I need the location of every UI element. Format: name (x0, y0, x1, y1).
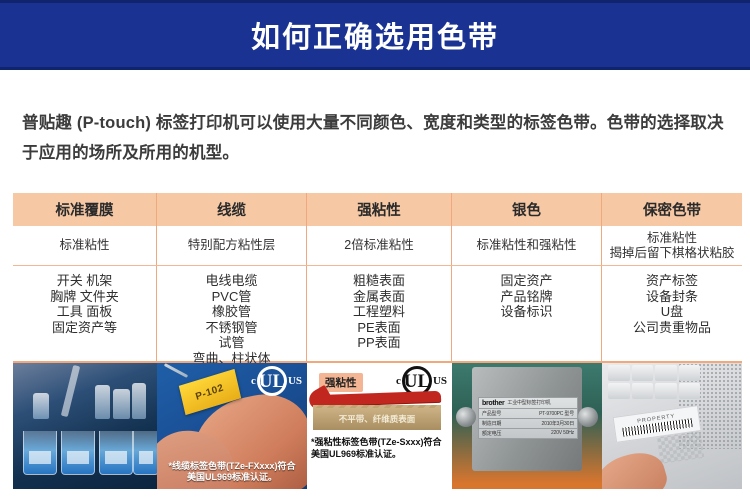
bottle-shape (95, 385, 110, 419)
ul-circle: UL (257, 366, 287, 396)
ribbon-comparison-table: 标准覆膜 线缆 强粘性 银色 保密色带 标准粘性 特别配方粘性层 2倍标准粘性 … (13, 193, 742, 489)
ul-suffix: US (433, 375, 447, 387)
bolt-shape (578, 407, 598, 427)
list-item: 资产标签 (646, 273, 698, 289)
nameplate-row-value: PT-9700PC 型号 (539, 410, 574, 417)
bottle-shape (132, 383, 146, 419)
key-shape (655, 383, 677, 399)
key-shape (632, 383, 654, 399)
list-item: 工具 面板 (57, 304, 113, 320)
yellow-flag-label-photo: P-102 c UL US *线缆标签色带(TZe-FXxxx)符合 美国UL9… (157, 363, 307, 489)
list-item: 试管 (218, 335, 244, 351)
adhesive-security: 标准粘性 揭掉后留下棋格状粘胶 (602, 226, 742, 265)
beaker-shape (23, 431, 57, 475)
applications-strong-adhesive: 粗糙表面 金属表面 工程塑料 PE表面 PP表面 (307, 266, 452, 361)
list-item: 产品铭牌 (500, 289, 552, 305)
wire-shape (164, 363, 188, 378)
header-banner: 如何正确选用色带 (0, 0, 750, 70)
list-item: 橡胶管 (212, 304, 251, 320)
strong-adhesive-diagram: 强粘性 c UL US 不平带、纤维质表面 *强粘性标签色带(TZe-Sxxx)… (307, 363, 452, 489)
bolt-shape (456, 407, 476, 427)
list-item: 开关 机架 (57, 273, 113, 289)
table-header-row: 标准覆膜 线缆 强粘性 银色 保密色带 (13, 193, 742, 226)
list-item: 公司贵重物品 (633, 320, 711, 336)
list-item: 固定资产等 (52, 320, 117, 336)
bottle-shape (33, 393, 49, 419)
flag-label-text: P-102 (195, 382, 226, 403)
bottle-shape (113, 389, 130, 419)
nameplate-row-label: 额定电压 (482, 430, 501, 437)
beaker-shape (99, 431, 133, 475)
list-item: PP表面 (357, 335, 400, 351)
column-header-security: 保密色带 (602, 193, 742, 226)
divider (479, 428, 577, 429)
nameplate-row-label: 产品型号 (482, 410, 501, 417)
column-header-strong-adhesive: 强粘性 (307, 193, 452, 226)
ul-suffix: US (288, 375, 302, 387)
key-shape (679, 365, 701, 381)
list-item: 固定资产 (500, 273, 552, 289)
list-item: PVC管 (212, 289, 252, 305)
key-shape (608, 383, 630, 399)
brother-logo-text: brother (479, 398, 504, 407)
nameplate-title: 工业中型标签打印机 (507, 399, 550, 406)
column-header-cable: 线缆 (157, 193, 307, 226)
divider (479, 418, 577, 419)
metal-nameplate-photo: brother 工业中型标签打印机 产品型号 PT-9700PC 型号 制造日期… (452, 363, 602, 489)
list-item: 粗糙表面 (353, 273, 405, 289)
list-item: 电线电缆 (205, 273, 257, 289)
column-header-standard-laminated: 标准覆膜 (13, 193, 157, 226)
page-title: 如何正确选用色带 (251, 14, 499, 56)
page-root: 如何正确选用色带 普贴趣 (P-touch) 标签打印机可以使用大量不同颜色、宽… (0, 0, 750, 497)
list-item: 金属表面 (353, 289, 405, 305)
table-photos-row: P-102 c UL US *线缆标签色带(TZe-FXxxx)符合 美国UL9… (13, 363, 742, 489)
applications-security: 资产标签 设备封条 U盘 公司贵重物品 (602, 266, 742, 361)
key-shape (632, 365, 654, 381)
keyboard-keys-shape (608, 365, 700, 399)
nameplate-row-label: 制造日期 (482, 420, 501, 427)
table-applications-row: 开关 机架 胸牌 文件夹 工具 面板 固定资产等 电线电缆 PVC管 橡胶管 不… (13, 266, 742, 363)
nameplate-label: brother 工业中型标签打印机 产品型号 PT-9700PC 型号 制造日期… (478, 397, 578, 439)
divider (479, 408, 577, 409)
security-label-photo: PROPERTY (602, 363, 742, 489)
adhesive-standard-laminated: 标准粘性 (13, 226, 157, 265)
list-item: 设备封条 (646, 289, 698, 305)
beaker-shape (61, 431, 95, 475)
ul-prefix: c (396, 375, 401, 387)
adhesive-strong: 2倍标准粘性 (307, 226, 452, 265)
key-shape (679, 383, 701, 399)
test-tube-shape (61, 365, 80, 417)
cable-ul-caption: *线缆标签色带(TZe-FXxxx)符合 美国UL969标准认证。 (161, 461, 303, 483)
list-item: 工程塑料 (353, 304, 405, 320)
key-shape (655, 365, 677, 381)
adhesive-cable: 特别配方粘性层 (157, 226, 307, 265)
applications-standard-laminated: 开关 机架 胸牌 文件夹 工具 面板 固定资产等 (13, 266, 157, 361)
applications-cable: 电线电缆 PVC管 橡胶管 不锈钢管 试管 弯曲、柱状体 (157, 266, 307, 361)
column-header-silver: 银色 (452, 193, 602, 226)
list-item: PE表面 (357, 320, 400, 336)
list-item: 不锈钢管 (205, 320, 257, 336)
ul-certification-icon: c UL US (251, 366, 302, 396)
rough-surface-band: 不平带、纤维质表面 (313, 408, 441, 430)
intro-paragraph: 普贴趣 (P-touch) 标签打印机可以使用大量不同颜色、宽度和类型的标签色带… (22, 108, 728, 168)
beaker-shape (133, 431, 157, 475)
applications-silver: 固定资产 产品铭牌 设备标识 (452, 266, 602, 361)
lab-glassware-photo (13, 363, 157, 489)
adhesive-silver: 标准粘性和强粘性 (452, 226, 602, 265)
list-item: 设备标识 (500, 304, 552, 320)
list-item: U盘 (661, 304, 683, 320)
ul-prefix: c (251, 375, 256, 387)
nameplate-row-value: 220V 50Hz (551, 430, 574, 437)
key-shape (608, 365, 630, 381)
table-adhesive-row: 标准粘性 特别配方粘性层 2倍标准粘性 标准粘性和强粘性 标准粘性 揭掉后留下棋… (13, 226, 742, 266)
list-item: 胸牌 文件夹 (50, 289, 119, 305)
nameplate-row-value: 2010年3月30日 (542, 420, 574, 427)
rough-surface-text: 不平带、纤维质表面 (339, 413, 416, 425)
strong-adhesive-ul-caption: *强粘性标签色带(TZe-Sxxx)符合 美国UL969标准认证。 (311, 437, 448, 460)
red-tape-shape (313, 391, 441, 406)
